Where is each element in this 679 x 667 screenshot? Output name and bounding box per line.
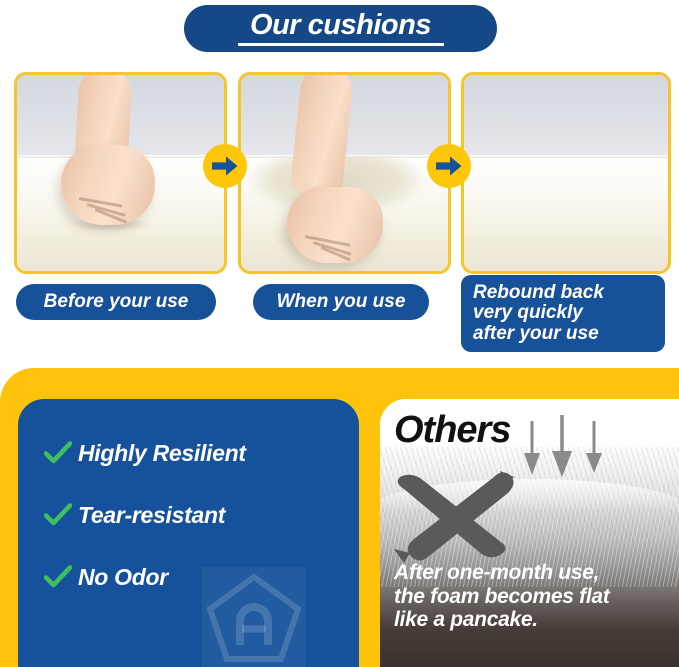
photo-background-wall xyxy=(464,75,668,161)
step-caption-3-line-1: Rebound back xyxy=(473,283,604,304)
step-photo-panel-1 xyxy=(14,72,227,274)
check-icon xyxy=(44,565,78,589)
features-card: Highly Resilient Tear-resistant No Odor xyxy=(18,399,359,667)
step-arrow-badge-1 xyxy=(203,144,247,188)
foam-top-edge xyxy=(464,155,668,158)
foam-slab-restored xyxy=(464,155,668,271)
others-comparison-card: Others xyxy=(380,399,679,667)
others-caption: After one-month use, the foam becomes fl… xyxy=(394,561,674,632)
step-caption-1: Before your use xyxy=(16,284,216,320)
page-title: Our cushions xyxy=(250,11,431,40)
others-caption-line-3: like a pancake. xyxy=(394,608,674,632)
pressure-arrows-group xyxy=(522,415,622,492)
step-caption-3-line-2: very quickly xyxy=(473,303,583,324)
others-caption-line-1: After one-month use, xyxy=(394,561,674,585)
feature-label: Highly Resilient xyxy=(78,440,246,467)
product-infographic: Our cushions xyxy=(0,0,679,667)
foam-rebounded-flat-photo xyxy=(464,75,668,271)
fist-resting-on-foam-photo xyxy=(17,75,224,271)
step-caption-3-line-3: after your use xyxy=(473,324,599,345)
feature-item: Tear-resistant xyxy=(44,497,344,533)
step-caption-3: Rebound back very quickly after your use xyxy=(461,275,665,352)
right-arrow-icon xyxy=(212,156,238,176)
step-photo-panel-3 xyxy=(461,72,671,274)
feature-label: Tear-resistant xyxy=(78,502,225,529)
title-underline xyxy=(238,43,444,46)
brush-x-mark-icon xyxy=(382,457,532,572)
feature-label: No Odor xyxy=(78,564,168,591)
step-arrow-badge-2 xyxy=(427,144,471,188)
check-icon xyxy=(44,503,78,527)
others-title: Others xyxy=(394,411,510,449)
right-arrow-icon xyxy=(436,156,462,176)
check-icon xyxy=(44,441,78,465)
others-caption-line-2: the foam becomes flat xyxy=(394,585,674,609)
fist-pressing-into-foam-photo xyxy=(241,75,448,271)
page-title-pill: Our cushions xyxy=(184,5,497,52)
step-photo-panel-2 xyxy=(238,72,451,274)
feature-item: Highly Resilient xyxy=(44,435,344,471)
step-caption-2: When you use xyxy=(253,284,429,320)
pentagon-house-logo-watermark xyxy=(202,567,306,667)
